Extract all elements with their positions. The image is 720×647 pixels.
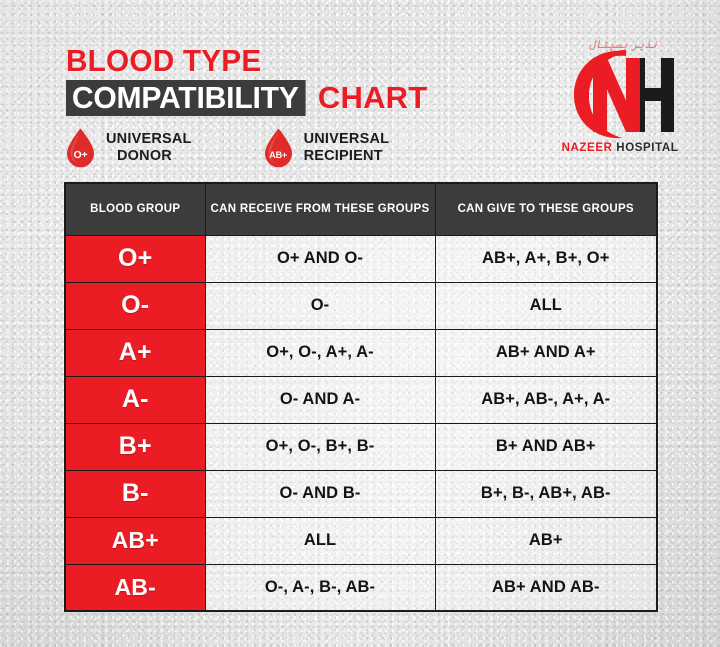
cell-can-give: B+, B-, AB+, AB-	[435, 470, 657, 517]
cell-blood-group: O+	[65, 235, 205, 282]
cell-blood-group: AB-	[65, 564, 205, 611]
cell-can-receive: O+ AND O-	[205, 235, 435, 282]
column-header-can-give: CAN GIVE TO THESE GROUPS	[435, 183, 657, 235]
title-line-blood-type: BLOOD TYPE	[66, 44, 413, 78]
cell-blood-group: AB+	[65, 517, 205, 564]
cell-can-give: AB+, A+, B+, O+	[435, 235, 657, 282]
cell-can-receive: O-, A-, B-, AB-	[205, 564, 435, 611]
logo-wordmark: NAZEER HOSPITAL	[556, 142, 684, 154]
title-band-compatibility: COMPATIBILITY	[66, 80, 305, 116]
cell-blood-group: B-	[65, 470, 205, 517]
legend-label-line1: UNIVERSAL	[304, 131, 390, 147]
blood-drop-icon: AB+	[262, 128, 295, 168]
legend-label-line2: DONOR	[117, 148, 192, 165]
cell-blood-group: O-	[65, 282, 205, 329]
legend-label-line1: UNIVERSAL	[106, 131, 192, 147]
cell-can-receive: O- AND A-	[205, 376, 435, 423]
column-header-blood-group: BLOOD GROUP	[65, 183, 205, 235]
legend: O+ UNIVERSAL DONOR AB+ UNIVERSAL RECIPIE…	[64, 128, 389, 168]
legend-label-universal-recipient: UNIVERSAL RECIPIENT	[304, 131, 390, 165]
cell-can-give: AB+, AB-, A+, A-	[435, 376, 657, 423]
cell-can-give: AB+	[435, 517, 657, 564]
table-row: AB+ ALL AB+	[65, 517, 657, 564]
cell-blood-group: A+	[65, 329, 205, 376]
legend-label-universal-donor: UNIVERSAL DONOR	[106, 131, 192, 165]
compatibility-table: BLOOD GROUP CAN RECEIVE FROM THESE GROUP…	[64, 182, 658, 612]
logo-urdu-script: نذیر ہسپتال	[586, 38, 660, 51]
table-row: O+ O+ AND O- AB+, A+, B+, O+	[65, 235, 657, 282]
page-title: BLOOD TYPE COMPATIBILITY CHART	[66, 44, 427, 116]
cell-can-give: ALL	[435, 282, 657, 329]
table-row: AB- O-, A-, B-, AB- AB+ AND AB-	[65, 564, 657, 611]
blood-type-compatibility-poster: BLOOD TYPE COMPATIBILITY CHART O+ UNIVER…	[0, 0, 720, 647]
table-row: O- O- ALL	[65, 282, 657, 329]
blood-drop-icon: O+	[64, 128, 97, 168]
cell-can-receive: O+, O-, B+, B-	[205, 423, 435, 470]
cell-can-give: AB+ AND A+	[435, 329, 657, 376]
column-header-can-receive: CAN RECEIVE FROM THESE GROUPS	[205, 183, 435, 235]
legend-item-universal-donor: O+ UNIVERSAL DONOR	[64, 128, 192, 168]
legend-label-line2: RECIPIENT	[304, 148, 390, 165]
cell-can-receive: O+, O-, A+, A-	[205, 329, 435, 376]
hospital-logo: نذیر ہسپتال NAZEER HOSPITAL	[556, 38, 684, 166]
table-row: B+ O+, O-, B+, B- B+ AND AB+	[65, 423, 657, 470]
cell-blood-group: A-	[65, 376, 205, 423]
cell-can-give: AB+ AND AB-	[435, 564, 657, 611]
legend-item-universal-recipient: AB+ UNIVERSAL RECIPIENT	[262, 128, 390, 168]
table-row: A+ O+, O-, A+, A- AB+ AND A+	[65, 329, 657, 376]
title-word-chart: CHART	[318, 80, 428, 116]
logo-monogram-nh-icon	[556, 38, 684, 148]
table-row: A- O- AND A- AB+, AB-, A+, A-	[65, 376, 657, 423]
title-line-compatibility-chart: COMPATIBILITY CHART	[66, 80, 427, 116]
blood-drop-label: AB+	[262, 150, 295, 160]
table-row: B- O- AND B- B+, B-, AB+, AB-	[65, 470, 657, 517]
logo-name-primary: NAZEER	[562, 142, 613, 154]
cell-blood-group: B+	[65, 423, 205, 470]
cell-can-receive: O- AND B-	[205, 470, 435, 517]
cell-can-receive: O-	[205, 282, 435, 329]
table-header-row: BLOOD GROUP CAN RECEIVE FROM THESE GROUP…	[65, 183, 657, 235]
blood-drop-label: O+	[64, 149, 97, 161]
cell-can-receive: ALL	[205, 517, 435, 564]
logo-name-secondary: HOSPITAL	[616, 142, 678, 154]
cell-can-give: B+ AND AB+	[435, 423, 657, 470]
